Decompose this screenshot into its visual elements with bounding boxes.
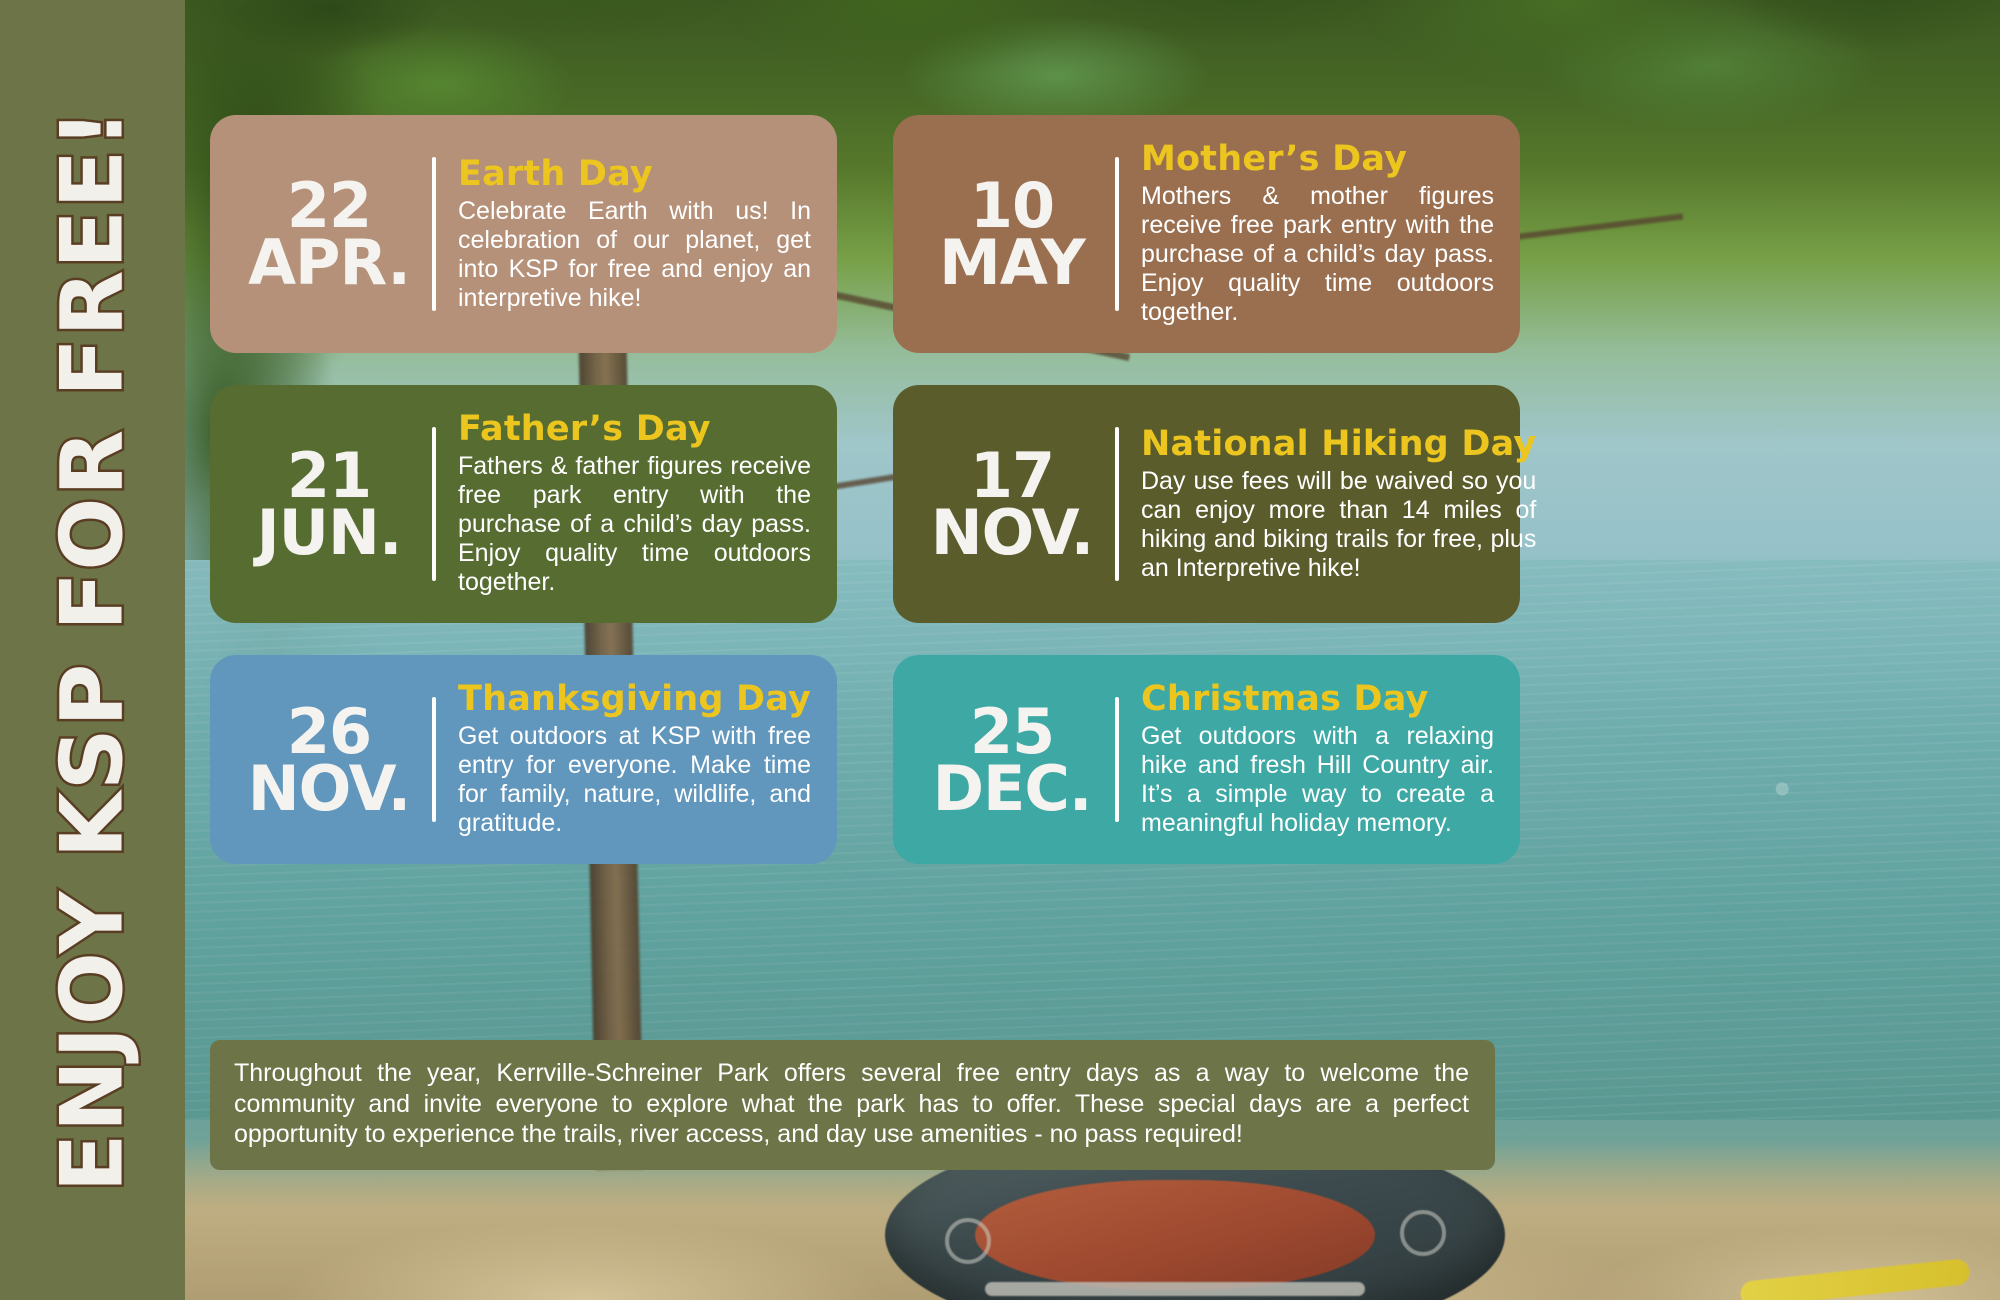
event-card[interactable]: 10 MAY Mother’s Day Mothers & mother fig… (893, 115, 1520, 353)
card-divider (432, 427, 436, 581)
event-date: 25 DEC. (915, 703, 1115, 817)
event-content: Father’s Day Fathers & father figures re… (458, 411, 811, 597)
event-content: Christmas Day Get outdoors with a relaxi… (1141, 681, 1494, 838)
event-date: 26 NOV. (232, 703, 432, 817)
event-month: NOV. (915, 504, 1109, 561)
event-title: Mother’s Day (1141, 141, 1494, 178)
event-description: Celebrate Earth with us! In celebration … (458, 197, 811, 313)
event-description: Fathers & father figures receive free pa… (458, 452, 811, 597)
card-divider (432, 697, 436, 822)
event-content: Thanksgiving Day Get outdoors at KSP wit… (458, 681, 811, 838)
event-card[interactable]: 17 NOV. National Hiking Day Day use fees… (893, 385, 1520, 623)
event-card[interactable]: 26 NOV. Thanksgiving Day Get outdoors at… (210, 655, 837, 864)
card-divider (1115, 157, 1119, 311)
event-month: APR. (232, 234, 426, 291)
event-title: Earth Day (458, 156, 811, 193)
event-card[interactable]: 21 JUN. Father’s Day Fathers & father fi… (210, 385, 837, 623)
event-card-grid: 22 APR. Earth Day Celebrate Earth with u… (210, 115, 1520, 864)
event-description: Mothers & mother figures receive free pa… (1141, 182, 1494, 327)
event-date: 22 APR. (232, 177, 432, 291)
event-card[interactable]: 22 APR. Earth Day Celebrate Earth with u… (210, 115, 837, 353)
left-sidebar: ENJOY KSP FOR FREE! (0, 0, 185, 1300)
event-title: National Hiking Day (1141, 426, 1536, 463)
event-content: Earth Day Celebrate Earth with us! In ce… (458, 156, 811, 313)
event-date: 21 JUN. (232, 447, 432, 561)
card-divider (1115, 427, 1119, 581)
event-month: NOV. (232, 760, 426, 817)
event-card[interactable]: 25 DEC. Christmas Day Get outdoors with … (893, 655, 1520, 864)
event-date: 17 NOV. (915, 447, 1115, 561)
event-description: Get outdoors at KSP with free entry for … (458, 722, 811, 838)
event-title: Thanksgiving Day (458, 681, 811, 718)
footer-description: Throughout the year, Kerrville-Schreiner… (234, 1058, 1469, 1150)
event-description: Get outdoors with a relaxing hike and fr… (1141, 722, 1494, 838)
event-title: Father’s Day (458, 411, 811, 448)
footer-banner: Throughout the year, Kerrville-Schreiner… (210, 1040, 1495, 1170)
event-month: MAY (915, 234, 1109, 291)
event-content: Mother’s Day Mothers & mother figures re… (1141, 141, 1494, 327)
card-divider (1115, 697, 1119, 822)
event-description: Day use fees will be waived so you can e… (1141, 467, 1536, 583)
event-month: DEC. (915, 760, 1109, 817)
event-content: National Hiking Day Day use fees will be… (1141, 426, 1536, 583)
event-title: Christmas Day (1141, 681, 1494, 718)
card-divider (432, 157, 436, 311)
poster-headline: ENJOY KSP FOR FREE! (50, 108, 136, 1193)
event-month: JUN. (232, 504, 426, 561)
event-date: 10 MAY (915, 177, 1115, 291)
